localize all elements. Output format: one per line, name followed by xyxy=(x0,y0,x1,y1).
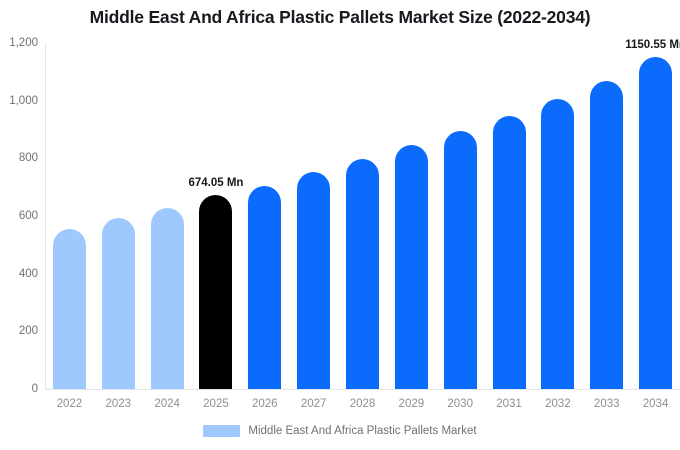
bar-2023[interactable] xyxy=(102,218,135,389)
legend-swatch-icon xyxy=(203,425,240,437)
bar-2032[interactable] xyxy=(541,99,574,389)
chart-title: Middle East And Africa Plastic Pallets M… xyxy=(0,7,680,28)
x-axis-tick-label: 2026 xyxy=(252,398,278,410)
y-axis-tick-label: 0 xyxy=(0,383,38,395)
bar-2033[interactable] xyxy=(590,81,623,389)
data-label-2034: 1150.55 Mn xyxy=(625,39,680,51)
x-axis-tick-label: 2033 xyxy=(594,398,620,410)
y-axis-tick-label: 800 xyxy=(0,152,38,164)
y-axis-tick-label: 600 xyxy=(0,210,38,222)
x-axis-tick-label: 2025 xyxy=(203,398,229,410)
chart-container: Middle East And Africa Plastic Pallets M… xyxy=(0,0,680,450)
x-axis-tick-label: 2032 xyxy=(545,398,571,410)
y-axis-tick-label: 1,000 xyxy=(0,95,38,107)
x-axis-tick-label: 2030 xyxy=(447,398,473,410)
y-axis-tick-label: 1,200 xyxy=(0,37,38,49)
bar-2031[interactable] xyxy=(493,116,526,389)
legend-label: Middle East And Africa Plastic Pallets M… xyxy=(248,425,476,437)
bar-2024[interactable] xyxy=(151,208,184,389)
x-axis-tick-label: 2034 xyxy=(643,398,669,410)
x-axis-tick-label: 2028 xyxy=(350,398,376,410)
chart-legend: Middle East And Africa Plastic Pallets M… xyxy=(0,425,680,437)
plot-area xyxy=(45,43,680,389)
x-axis-tick-label: 2022 xyxy=(57,398,83,410)
bar-2028[interactable] xyxy=(346,159,379,389)
x-axis-tick-label: 2031 xyxy=(496,398,522,410)
bar-2022[interactable] xyxy=(53,229,86,389)
x-axis-tick-label: 2027 xyxy=(301,398,327,410)
data-label-2025: 674.05 Mn xyxy=(188,177,243,189)
bar-2034[interactable] xyxy=(639,57,672,389)
bar-2026[interactable] xyxy=(248,186,281,389)
x-axis-tick-label: 2024 xyxy=(154,398,180,410)
x-axis-tick-label: 2023 xyxy=(105,398,131,410)
y-axis-tick-label: 400 xyxy=(0,268,38,280)
bar-2029[interactable] xyxy=(395,145,428,389)
bar-2030[interactable] xyxy=(444,131,477,389)
x-axis-line xyxy=(45,389,680,390)
bar-2025[interactable] xyxy=(199,195,232,389)
y-axis-tick-label: 200 xyxy=(0,325,38,337)
x-axis-tick-label: 2029 xyxy=(399,398,425,410)
bar-2027[interactable] xyxy=(297,172,330,389)
